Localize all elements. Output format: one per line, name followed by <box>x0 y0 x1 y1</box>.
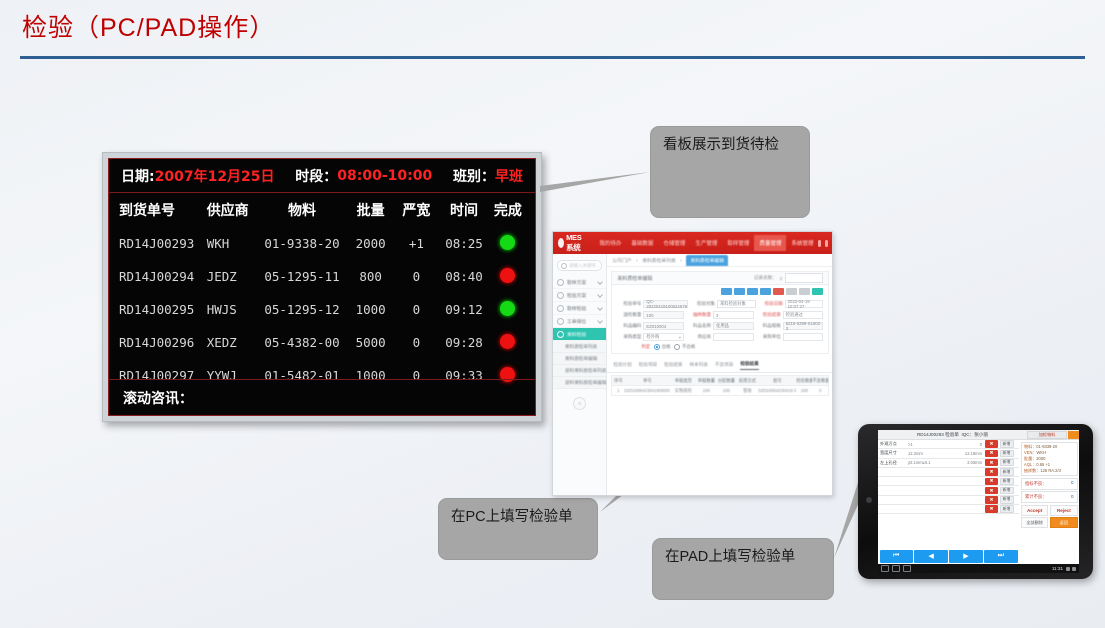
item-name: 宽度尺寸 <box>878 450 908 456</box>
cell-status <box>491 301 525 319</box>
item-spec: >1 <box>908 442 946 447</box>
pc-nav-item-6[interactable]: 系统管理 <box>786 235 818 251</box>
cell-time: 08:40 <box>437 269 490 284</box>
cell-material: 01-9338-20 <box>258 236 346 251</box>
radio-fail[interactable]: 不合格 <box>674 344 695 350</box>
pad-header: RD14J00293 检验单 IQC：张小丽 加检物料 <box>878 430 1079 440</box>
field-9: 采购类型 检外购▾ <box>617 333 684 341</box>
delete-icon[interactable]: ✖ <box>985 459 998 467</box>
delete-icon[interactable]: ✖ <box>985 487 998 495</box>
back-icon[interactable] <box>881 565 889 572</box>
pad-item-list: 外观污点 >1 0 ✖ 新增 宽度尺寸 12.2mm 12.19mm ✖ 新增 <box>878 440 1019 564</box>
status-indicator-red <box>500 268 515 283</box>
add-button[interactable]: 新增 <box>1000 450 1014 458</box>
counter-value: 0 <box>1071 481 1074 486</box>
item-name: 外观污点 <box>878 441 908 447</box>
info-sample: 抽样数：125 RA:2/3 <box>1024 468 1075 474</box>
field-label: 抽样数量 <box>687 312 711 318</box>
field-label: 检验对象 <box>691 301 715 307</box>
pad-material-info: 物料：01-9338-20 VEN：WKH 批量：2000 AQL：0.65 +… <box>1021 442 1078 477</box>
field-label: 料品规格 <box>757 323 781 329</box>
status-indicator-green <box>500 301 515 316</box>
cell-level: +1 <box>395 236 437 251</box>
add-button[interactable]: 新增 <box>1000 505 1014 513</box>
item-spec: ∮2.1mm±0.1 <box>908 460 946 465</box>
toolbar-button-save[interactable] <box>747 288 758 295</box>
chevron-down-icon <box>598 279 604 285</box>
toolbar-button-close[interactable] <box>812 288 823 295</box>
counter-indicator-defect: 指标不良： 0 <box>1021 478 1078 490</box>
pc-nav-item-1[interactable]: 基础数据 <box>626 235 658 251</box>
cell-material: 05-1295-11 <box>258 269 346 284</box>
tab-2[interactable]: 检验结果 <box>664 362 682 370</box>
battery-icon <box>1072 567 1076 571</box>
field-value[interactable]: 3 <box>713 311 754 319</box>
add-button[interactable]: 新增 <box>1000 478 1014 486</box>
pc-sidebar: 请输入关键字... 取样方案 检验方案 取样检验 工单排位 <box>553 254 607 496</box>
item-measured: 12.19mm <box>946 451 982 456</box>
pc-nav-item-3[interactable]: 生产管理 <box>690 235 722 251</box>
pc-nav-item-5[interactable]: 质量管理 <box>754 235 786 251</box>
list-item[interactable]: 左上孔径 ∮2.1mm±0.1 2.03mm ✖ 新增 <box>878 459 1019 468</box>
circle-icon <box>557 279 564 286</box>
kanban-date-value: 2007年12月25日 <box>155 166 275 186</box>
pad-device: RD14J00293 检验单 IQC：张小丽 加检物料 外观污点 >1 0 ✖ … <box>858 424 1093 579</box>
kanban-shift-label: 班别： <box>453 166 495 186</box>
cell-material: 05-4382-00 <box>258 335 346 350</box>
td-doc: DZ010064230419000001 <box>624 388 670 393</box>
table-row: RD14J00296 XEDZ 05-4382-00 5000 0 09:28 <box>109 326 535 359</box>
field-label: 检验日期 <box>759 301 783 307</box>
status-indicator-red <box>500 334 515 349</box>
add-button[interactable]: 新增 <box>1000 487 1014 495</box>
sidebar-item-0[interactable]: 取样方案 <box>553 276 606 289</box>
field-label: 供应商 <box>687 334 711 340</box>
cell-status <box>491 235 525 253</box>
list-item[interactable]: ✖ 新增 <box>878 486 1019 495</box>
toolbar-button-edit[interactable] <box>734 288 745 295</box>
th-inspectqty: 检验数量 <box>796 378 812 384</box>
kanban-shift-value: 早班 <box>495 166 523 186</box>
table-row: RD14J00295 HWJS 05-1295-12 1000 0 09:12 <box>109 293 535 326</box>
cell-qty: 1000 <box>346 302 396 317</box>
judgement-label: 判定 <box>641 344 650 350</box>
td-defectqty: 0 <box>812 388 828 393</box>
field-0: 检验单号 QC-20220419100622579 <box>617 300 688 308</box>
sidebar-item-label: 取样方案 <box>567 279 586 286</box>
radio-label: 合格 <box>662 344 671 350</box>
pc-record-input[interactable] <box>785 273 823 283</box>
pc-form-panel: 来料质检单编辑 记录总数： 2 <box>611 271 829 354</box>
breadcrumb-item-1[interactable]: 来料质检单列表 <box>642 257 676 264</box>
pc-panel-title: 来料质检单编辑 <box>617 275 652 282</box>
chevron-down-icon <box>598 318 604 324</box>
field-7: 料品规格 5216-5299-S1802-3 <box>757 322 824 330</box>
sidebar-subitem-label: 退料来料质检单编辑 <box>565 380 606 386</box>
pc-screenshot: MES 系统 我的待办 基础数据 仓储管理 生产管理 取样管理 质量管理 系统管… <box>552 231 833 496</box>
radio-icon <box>654 344 660 350</box>
column-header-status: 完成 <box>491 200 525 220</box>
pc-nav-item-2[interactable]: 仓储管理 <box>658 235 690 251</box>
settings-icon[interactable] <box>832 240 833 247</box>
logo-icon <box>558 238 564 248</box>
add-button[interactable]: 新增 <box>1000 468 1014 476</box>
cell-supplier: XEDZ <box>207 335 258 350</box>
home-icon[interactable] <box>892 565 900 572</box>
field-label: 检验单号 <box>617 301 641 307</box>
field-value[interactable]: EZ010004 <box>643 322 684 330</box>
pad-order-no: RD14J00293 <box>917 432 944 437</box>
field-label: 送检数量 <box>617 312 641 318</box>
sidebar-item-label: 取样检验 <box>567 305 586 312</box>
field-value[interactable]: 来料检验对象 <box>717 300 756 308</box>
tab-1[interactable]: 检验项目 <box>639 362 657 370</box>
field-value[interactable]: 检外购▾ <box>643 333 684 341</box>
cell-level: 0 <box>395 269 437 284</box>
td-seq: 1 <box>612 388 624 393</box>
title-divider <box>20 56 1085 59</box>
sidebar-item-label: 检验方案 <box>567 292 586 299</box>
add-button[interactable]: 新增 <box>1000 496 1014 504</box>
cell-material: 05-1295-12 <box>258 302 346 317</box>
pc-logo: MES 系统 <box>558 233 585 253</box>
column-header-time: 时间 <box>437 200 490 220</box>
pc-main-content: 公司门户 × 来料质检单列表 × 来料质检单编辑 来料质检单编辑 记录总数： 2 <box>607 254 833 496</box>
cell-time: 09:28 <box>437 335 490 350</box>
sidebar-subitem-0[interactable]: 来料质检单列表 <box>553 341 606 353</box>
th-handling: 处理方式 <box>736 378 758 384</box>
clear-all-button[interactable]: 全部删除 <box>1021 517 1048 528</box>
pad-inspector: IQC：张小丽 <box>961 432 988 437</box>
circle-icon <box>557 305 564 312</box>
counter-cumulative-defect: 累计不良： 0 <box>1021 491 1078 503</box>
toolbar-button-new[interactable] <box>721 288 732 295</box>
ticker-label: 滚动咨讯： <box>123 388 193 408</box>
list-item[interactable]: ✖ 新增 <box>878 477 1019 486</box>
status-indicator-green <box>500 235 515 250</box>
clock-label: 11:31 <box>1052 566 1063 571</box>
toolbar-button-print[interactable] <box>786 288 797 295</box>
column-header-level: 严宽 <box>395 200 437 220</box>
pc-nav-item-0[interactable]: 我的待办 <box>594 235 626 251</box>
cell-supplier: HWJS <box>207 302 258 317</box>
field-label: 料品名称 <box>687 323 711 329</box>
sidebar-item-label: 工单排位 <box>567 318 586 325</box>
cell-supplier: JEDZ <box>207 269 258 284</box>
field-4: 检验日期 2022-04-19 10:07:27 <box>759 300 824 308</box>
field-value[interactable]: QC-20220419100622579 <box>643 300 688 308</box>
kanban-ticker: 滚动咨讯： <box>109 379 535 415</box>
kanban-board: 日期: 2007年12月25日 时段： 08:00-10:00 班别： 早班 到… <box>102 152 542 422</box>
return-button[interactable]: 返回 <box>1050 517 1077 528</box>
radio-label: 不合格 <box>682 344 695 350</box>
field-3: 抽样数量 3 <box>687 311 754 319</box>
column-header-order: 到货单号 <box>119 200 207 220</box>
recents-icon[interactable] <box>903 565 911 572</box>
accept-button[interactable]: Accept <box>1021 505 1048 516</box>
pc-tab-bar: 检验计划 检验项目 检验结果 样本列表 不良项目 检验结果 <box>607 358 833 373</box>
search-icon <box>561 263 567 269</box>
column-header-supplier: 供应商 <box>207 200 258 220</box>
cell-level: 0 <box>395 302 437 317</box>
circle-icon <box>557 292 564 299</box>
cell-status <box>491 334 525 352</box>
callout-kanban: 看板展示到货待检 <box>650 126 810 218</box>
sidebar-subitem-label: 退料来料质检单列表 <box>565 368 606 374</box>
next-page-button[interactable]: ▶ <box>949 550 982 563</box>
cell-time: 08:25 <box>437 236 490 251</box>
table-row: RD14J00293 WKH 01-9338-20 2000 +1 08:25 <box>109 227 535 260</box>
delete-icon[interactable]: ✖ <box>985 478 998 486</box>
counter-value: 0 <box>1071 495 1074 500</box>
cell-order: RD14J00293 <box>119 236 207 251</box>
pc-nav-item-4[interactable]: 取样管理 <box>722 235 754 251</box>
th-seq: 序号 <box>612 378 624 384</box>
cell-status <box>491 268 525 286</box>
sidebar-subitem-1[interactable]: 来料质检单编辑 <box>553 353 606 365</box>
cell-order: RD14J00294 <box>119 269 207 284</box>
tab-3[interactable]: 样本列表 <box>690 362 708 370</box>
cell-order: RD14J00295 <box>119 302 207 317</box>
field-value[interactable]: 5216-5299-S1802-3 <box>783 322 824 330</box>
counter-label: 累计不良： <box>1025 494 1046 500</box>
field-1: 检验对象 来料检验对象 <box>691 300 756 308</box>
item-measured: 2.03mm <box>946 460 982 465</box>
td-batch: DZ010064230419 00001 <box>758 388 796 393</box>
field-6: 料品名称 化用品 <box>687 322 754 330</box>
sidebar-item-4[interactable]: 来料检验 <box>553 328 606 341</box>
pad-info-panel: 物料：01-9338-20 VEN：WKH 批量：2000 AQL：0.65 +… <box>1019 440 1079 564</box>
td-allocqty: 100 <box>716 388 736 393</box>
add-button[interactable]: 新增 <box>1000 459 1014 467</box>
breadcrumb: 公司门户 × 来料质检单列表 × 来料质检单编辑 <box>607 254 833 267</box>
tab-5[interactable]: 检验结果 <box>740 361 758 370</box>
callout-pad: 在PAD上填写检验单 <box>652 538 834 600</box>
cell-qty: 2000 <box>346 236 396 251</box>
kanban-period-value: 08:00-10:00 <box>337 168 432 184</box>
first-page-button[interactable]: ⏮ <box>880 550 913 563</box>
tab-0[interactable]: 检验计划 <box>613 362 631 370</box>
th-docqty: 单据数量 <box>696 378 716 384</box>
th-defectqty: 不良数量 <box>812 378 828 384</box>
th-allocqty: 分配数量 <box>716 378 736 384</box>
judgement-radio-group: 判定 合格 不合格 <box>617 344 823 350</box>
add-button[interactable]: 新增 <box>1000 440 1014 448</box>
pc-nav[interactable]: 我的待办 基础数据 仓储管理 生产管理 取样管理 质量管理 系统管理 <box>594 235 818 251</box>
breadcrumb-item-0[interactable]: 公司门户 <box>612 257 631 264</box>
field-label: 检验结果 <box>757 312 781 318</box>
field-11: 检验结果 检验通过 <box>757 311 824 319</box>
th-doctype: 单据类型 <box>670 378 696 384</box>
kanban-date-label: 日期: <box>121 166 155 186</box>
list-item[interactable]: ✖ 新增 <box>878 468 1019 477</box>
pc-form-fields: 检验单号 QC-20220419100622579 检验对象 来料检验对象 检验… <box>612 298 828 353</box>
prev-page-button[interactable]: ◀ <box>914 550 947 563</box>
counter-label: 指标不良： <box>1025 481 1046 487</box>
pc-top-navbar: MES 系统 我的待办 基础数据 仓储管理 生产管理 取样管理 质量管理 系统管… <box>553 232 832 254</box>
bell-icon[interactable] <box>818 240 821 247</box>
pc-record-count-value: 2 <box>780 276 783 281</box>
delete-icon[interactable]: ✖ <box>985 496 998 504</box>
chevron-down-icon <box>598 305 604 311</box>
kanban-header: 日期: 2007年12月25日 时段： 08:00-10:00 班别： 早班 <box>109 159 535 193</box>
radio-icon <box>674 344 680 350</box>
circle-icon <box>557 331 564 338</box>
sidebar-subitem-2[interactable]: 退料来料质检单列表 <box>553 365 606 377</box>
field-10: 供应商 <box>687 333 754 341</box>
pc-panel-header: 来料质检单编辑 记录总数： 2 <box>612 272 828 285</box>
table-row[interactable]: 1 DZ010064230419000001 实物质检 100 100 暂收 D… <box>612 386 828 395</box>
wifi-icon <box>1066 567 1070 571</box>
th-batch: 批号 <box>758 378 796 384</box>
field-label: 料品编码 <box>617 323 641 329</box>
field-value[interactable]: 2022-04-19 10:07:27 <box>785 300 824 308</box>
td-docqty: 100 <box>696 388 716 393</box>
field-value[interactable]: 检验通过 <box>783 311 824 319</box>
pc-toolbar <box>612 285 828 298</box>
table-row: RD14J00294 JEDZ 05-1295-11 800 0 08:40 <box>109 260 535 293</box>
delete-icon[interactable]: ✖ <box>985 505 998 513</box>
pc-table-header: 序号 单号 单据类型 单据数量 分配数量 处理方式 批号 检验数量 不良数量 <box>612 376 828 386</box>
orange-indicator[interactable] <box>1068 431 1079 439</box>
column-header-material: 物料 <box>258 200 346 220</box>
toolbar-button-export[interactable] <box>799 288 810 295</box>
cell-qty: 5000 <box>346 335 396 350</box>
cell-qty: 800 <box>346 269 396 284</box>
cell-supplier: WKH <box>207 236 258 251</box>
sidebar-subitem-label: 来料质检单列表 <box>565 344 597 350</box>
cell-order: RD14J00296 <box>119 335 207 350</box>
cell-time: 09:12 <box>437 302 490 317</box>
callout-pc: 在PC上填写检验单 <box>438 498 598 560</box>
sidebar-subitem-3[interactable]: 退料来料质检单编辑 <box>553 377 606 389</box>
field-value[interactable] <box>713 333 754 341</box>
cell-level: 0 <box>395 335 437 350</box>
item-spec: 12.2mm <box>908 451 946 456</box>
sidebar-item-label: 来料检验 <box>567 331 586 338</box>
list-item[interactable]: 外观污点 >1 0 ✖ 新增 <box>878 440 1019 449</box>
td-doctype: 实物质检 <box>670 388 696 394</box>
item-name: 左上孔径 <box>878 460 908 466</box>
pad-screen: RD14J00293 检验单 IQC：张小丽 加检物料 外观污点 >1 0 ✖ … <box>878 430 1079 573</box>
list-item[interactable]: ✖ 新增 <box>878 496 1019 505</box>
field-label: 采购单位 <box>757 334 781 340</box>
message-icon[interactable] <box>825 240 828 247</box>
status-tray <box>1066 567 1076 571</box>
extra-inspection-button[interactable]: 加检物料 <box>1027 431 1067 439</box>
sidebar-item-3[interactable]: 工单排位 <box>553 315 606 328</box>
field-2: 送检数量 100 <box>617 311 684 319</box>
pad-system-bar: 11:31 <box>878 564 1079 573</box>
tab-4[interactable]: 不良项目 <box>715 362 733 370</box>
field-5: 料品编码 EZ010004 <box>617 322 684 330</box>
delete-icon[interactable]: ✖ <box>985 450 998 458</box>
breadcrumb-separator: × <box>636 258 639 263</box>
pc-data-table: 序号 单号 单据类型 单据数量 分配数量 处理方式 批号 检验数量 不良数量 1… <box>611 375 829 396</box>
field-label: 采购类型 <box>617 334 641 340</box>
td-inspectqty: 100 <box>796 388 812 393</box>
field-8: 采购单位 <box>757 333 824 341</box>
sidebar-collapse-button[interactable]: « <box>573 397 586 410</box>
circle-icon <box>557 318 564 325</box>
pc-record-count-label: 记录总数： <box>754 275 777 281</box>
item-measured: 0 <box>946 442 982 447</box>
reject-button[interactable]: Reject <box>1050 505 1077 516</box>
th-doc: 单号 <box>624 378 670 384</box>
pad-doc-label: 检验单 <box>945 432 959 437</box>
list-item[interactable]: ✖ 新增 <box>878 505 1019 514</box>
delete-icon[interactable]: ✖ <box>985 440 998 448</box>
list-item[interactable]: 宽度尺寸 12.2mm 12.19mm ✖ 新增 <box>878 449 1019 458</box>
toolbar-button-delete[interactable] <box>760 288 771 295</box>
breadcrumb-separator: × <box>680 258 683 263</box>
pad-pager: ⏮ ◀ ▶ ⏭ <box>878 548 1019 564</box>
pc-topbar-actions: 您好,汪海明! 供应 ▾ <box>818 233 833 254</box>
column-header-qty: 批量 <box>346 200 396 220</box>
search-input[interactable]: 请输入关键字... <box>557 260 602 271</box>
sidebar-subitem-label: 来料质检单编辑 <box>565 356 597 362</box>
delete-icon[interactable]: ✖ <box>985 468 998 476</box>
breadcrumb-item-2[interactable]: 来料质检单编辑 <box>686 255 728 266</box>
last-page-button[interactable]: ⏭ <box>984 550 1017 563</box>
search-placeholder: 请输入关键字... <box>569 263 600 269</box>
pc-logo-text: MES 系统 <box>566 233 585 253</box>
chevron-down-icon <box>598 292 604 298</box>
kanban-column-headers: 到货单号 供应商 物料 批量 严宽 时间 完成 <box>109 193 535 227</box>
toolbar-button-submit[interactable] <box>773 288 784 295</box>
kanban-period-label: 时段： <box>295 166 337 186</box>
field-value[interactable]: 化用品 <box>713 322 754 330</box>
field-value[interactable]: 100 <box>643 311 684 319</box>
sidebar-item-1[interactable]: 检验方案 <box>553 289 606 302</box>
td-handling: 暂收 <box>736 388 758 394</box>
sidebar-item-2[interactable]: 取样检验 <box>553 302 606 315</box>
radio-pass[interactable]: 合格 <box>654 344 670 350</box>
camera-icon <box>865 496 873 504</box>
pad-title: RD14J00293 检验单 IQC：张小丽 <box>878 432 1027 438</box>
field-value[interactable] <box>783 333 824 341</box>
page-title: 检验（PC/PAD操作） <box>22 8 275 44</box>
